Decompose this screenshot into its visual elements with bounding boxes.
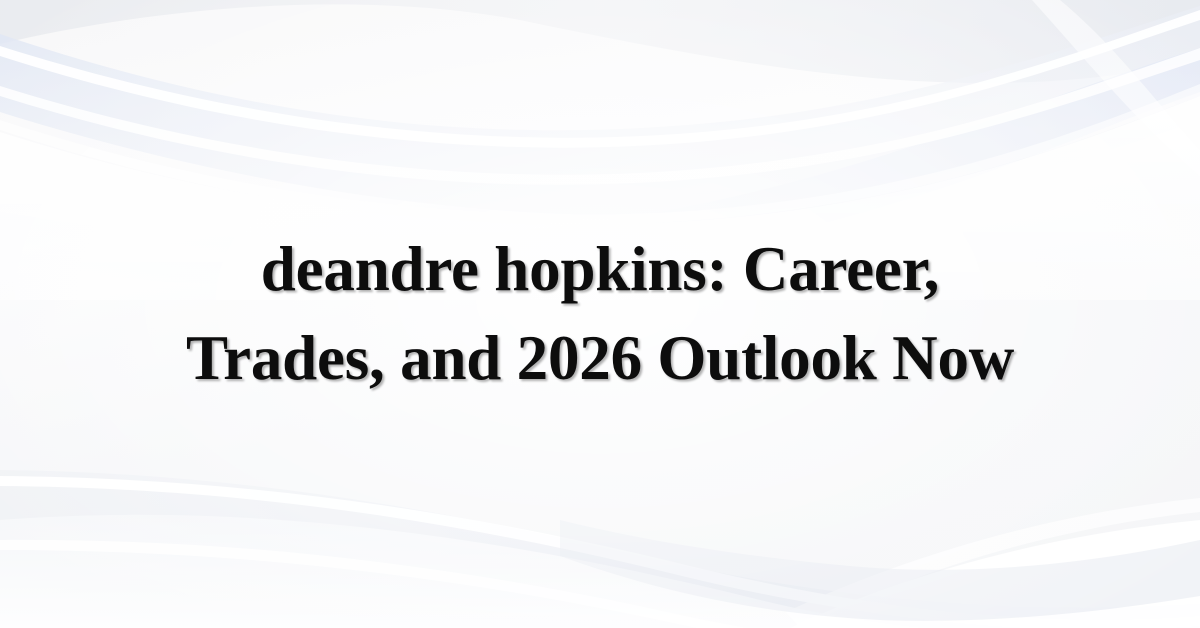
page-title: deandre hopkins: Career, Trades, and 202…: [170, 225, 1030, 404]
title-container: deandre hopkins: Career, Trades, and 202…: [0, 0, 1200, 628]
open-graph-card: deandre hopkins: Career, Trades, and 202…: [0, 0, 1200, 628]
